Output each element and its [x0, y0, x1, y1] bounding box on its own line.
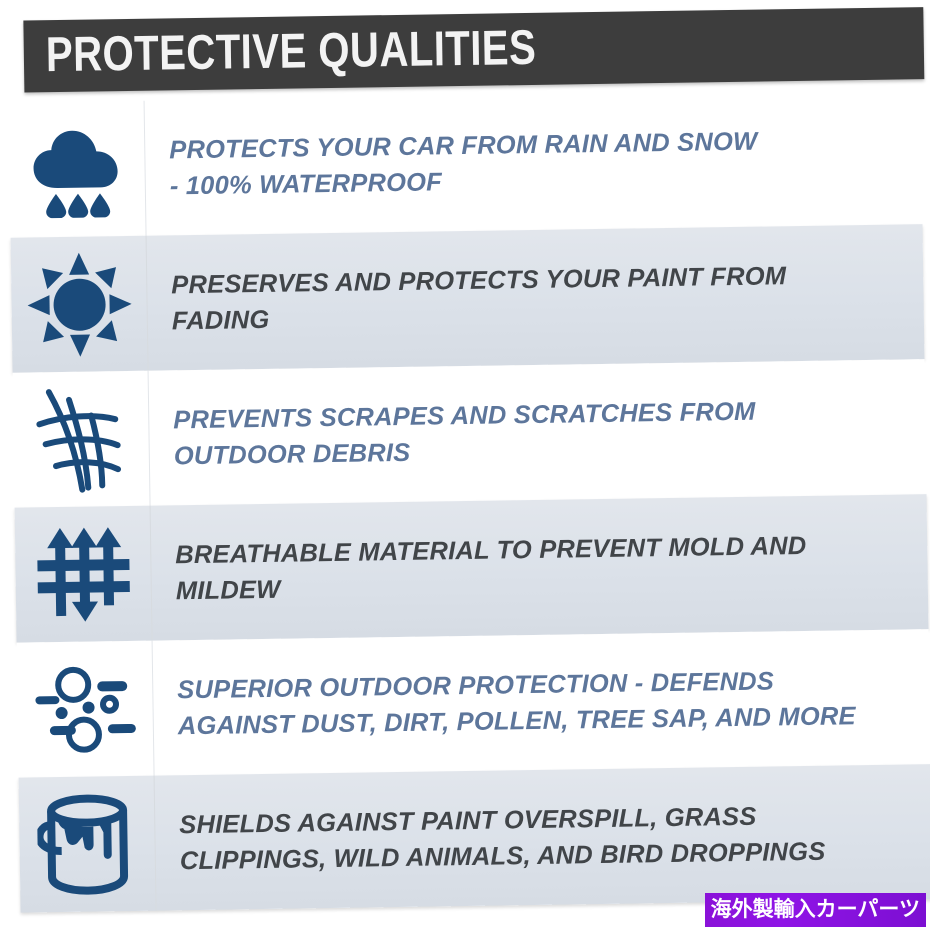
page-title: PROTECTIVE QUALITIES: [45, 20, 536, 84]
protective-qualities-infographic: PROTECTIVE QUALITIES: [0, 0, 930, 930]
feature-text: SUPERIOR OUTDOOR PROTECTION - DEFENDS AG…: [153, 661, 930, 745]
paint-can-icon: [37, 791, 139, 896]
icon-cell: [11, 236, 149, 373]
feature-row-waterproof: PROTECTS YOUR CAR FROM RAIN AND SNOW - 1…: [9, 89, 923, 238]
feature-row-uv-fading: PRESERVES AND PROTECTS YOUR PAINT FROM F…: [11, 224, 925, 373]
feature-text: PROTECTS YOUR CAR FROM RAIN AND SNOW - 1…: [145, 121, 922, 205]
icon-cell: [15, 506, 153, 643]
feature-text: SHIELDS AGAINST PAINT OVERSPILL, GRASS C…: [155, 796, 930, 880]
rain-cloud-icon: [25, 120, 130, 218]
feature-text: PREVENTS SCRAPES AND SCRATCHES FROM OUTD…: [149, 391, 926, 475]
feature-row-dust-protection: SUPERIOR OUTDOOR PROTECTION - DEFENDS AG…: [17, 629, 930, 778]
feature-text: PRESERVES AND PROTECTS YOUR PAINT FROM F…: [147, 256, 924, 340]
icon-cell: [9, 101, 147, 238]
feature-row-scratch-resistance: PREVENTS SCRAPES AND SCRATCHES FROM OUTD…: [13, 359, 927, 508]
infographic-sheet: PROTECTIVE QUALITIES: [0, 0, 930, 930]
feature-list: PROTECTS YOUR CAR FROM RAIN AND SNOW - 1…: [9, 89, 930, 912]
watermark-badge: 海外製輸入カーパーツ: [705, 893, 926, 927]
sun-icon: [27, 251, 133, 357]
icon-cell: [13, 371, 151, 508]
dust-particles-icon: [29, 661, 142, 757]
feature-text: BREATHABLE MATERIAL TO PREVENT MOLD AND …: [151, 526, 928, 610]
header-bar: PROTECTIVE QUALITIES: [23, 7, 924, 92]
breathable-arrows-icon: [33, 524, 134, 623]
icon-cell: [17, 641, 155, 778]
feature-row-breathable: BREATHABLE MATERIAL TO PREVENT MOLD AND …: [15, 494, 929, 643]
icon-cell: [19, 776, 157, 913]
feature-row-paint-overspill: SHIELDS AGAINST PAINT OVERSPILL, GRASS C…: [19, 764, 930, 913]
scratches-icon: [29, 384, 135, 494]
